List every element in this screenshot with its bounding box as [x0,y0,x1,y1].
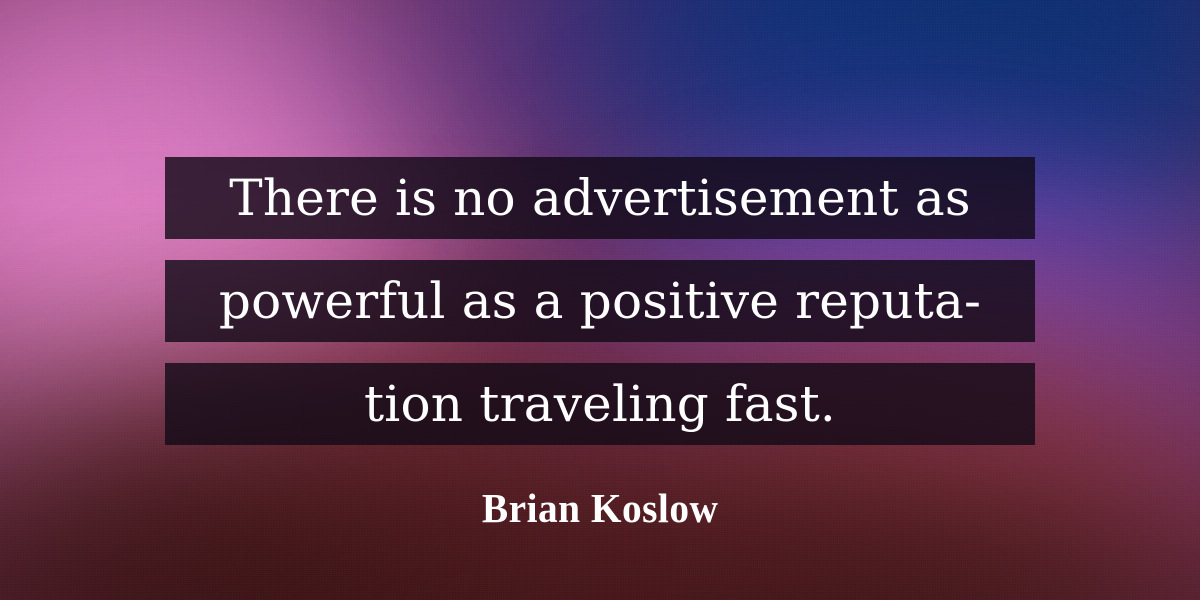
author-block: Brian Koslow [0,484,1200,532]
quote-block: There is no advertisement as powerful as… [165,157,1035,445]
quote-line-3: tion traveling fast. [165,363,1035,445]
quote-line-1-text: There is no advertisement as [229,173,970,223]
quote-line-2-text: powerful as a positive reputa- [219,276,981,326]
quote-card: There is no advertisement as powerful as… [0,0,1200,600]
author-name: Brian Koslow [482,484,718,532]
quote-line-1: There is no advertisement as [165,157,1035,239]
quote-line-3-text: tion traveling fast. [364,379,836,429]
quote-line-2: powerful as a positive reputa- [165,260,1035,342]
